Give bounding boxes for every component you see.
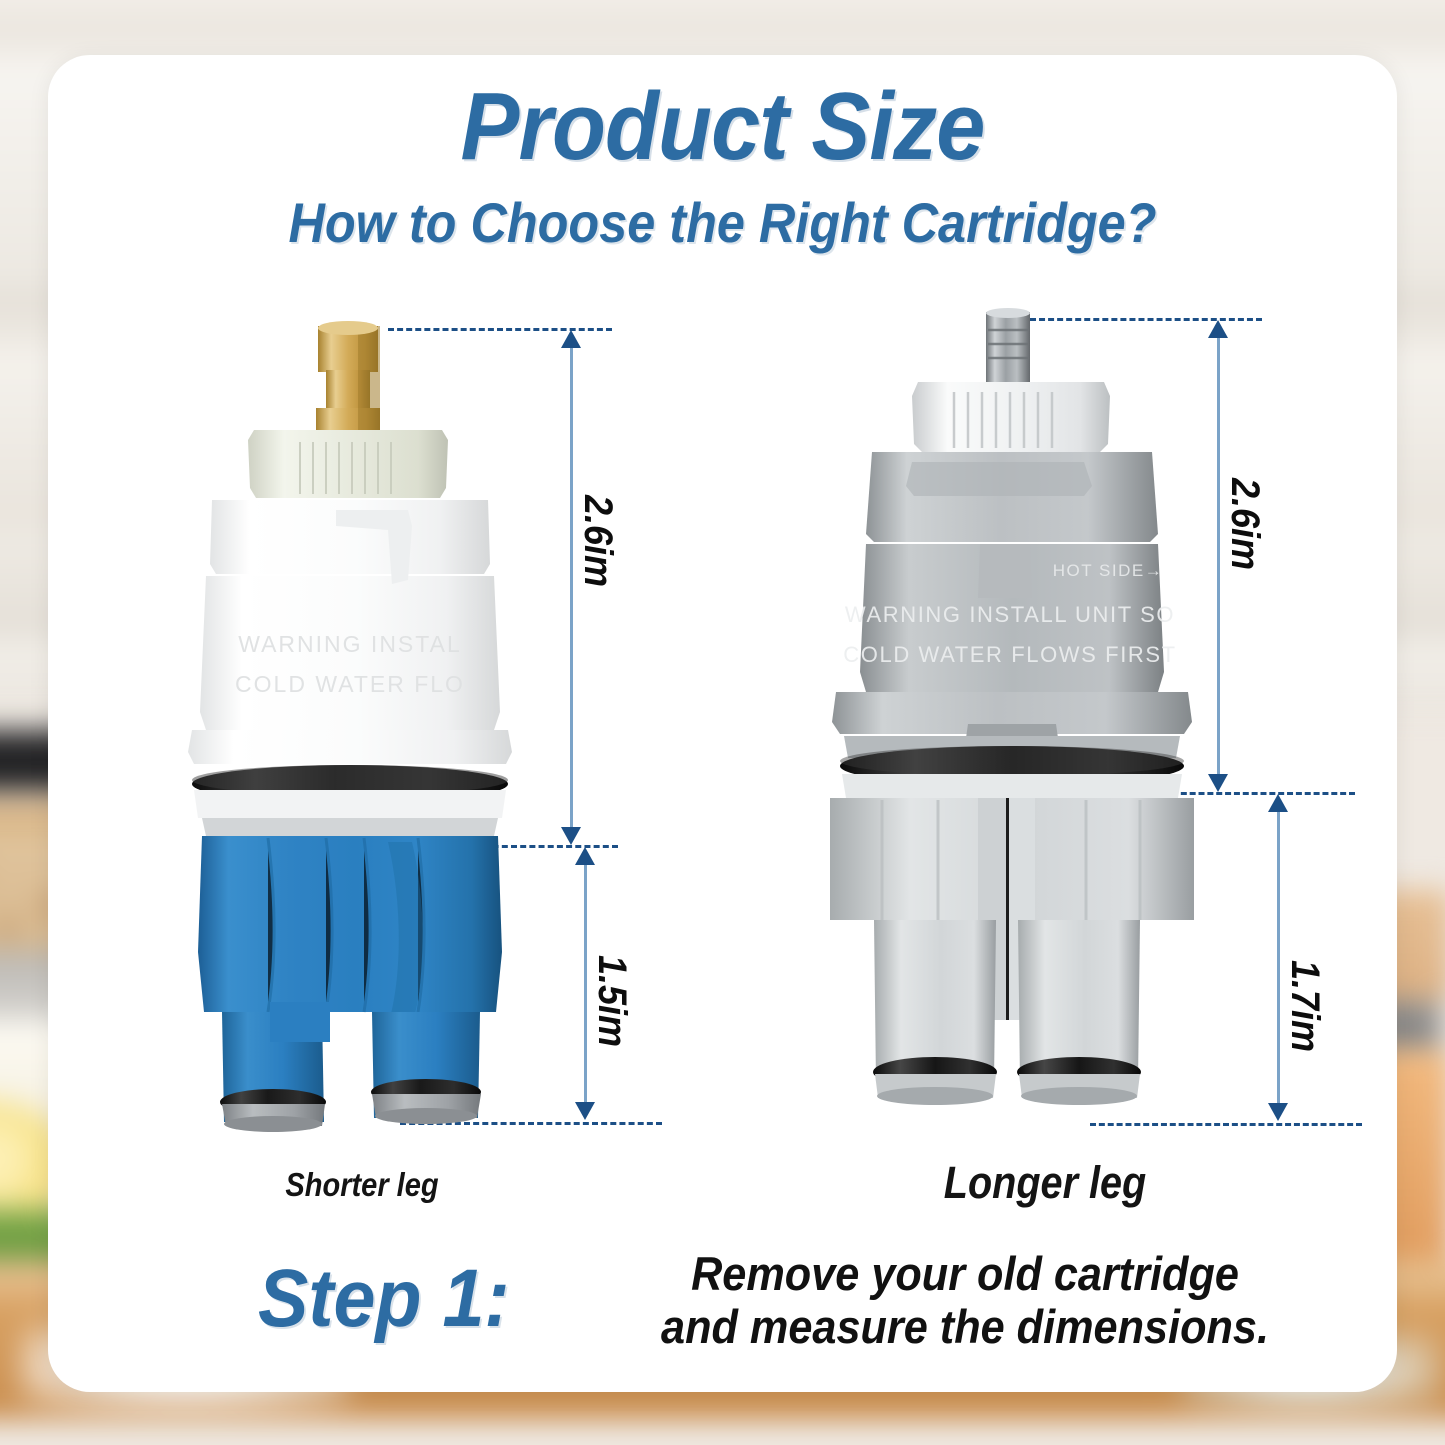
- dimension-label-left-upper: 2.6im: [575, 495, 620, 587]
- step-number: Step 1:: [258, 1252, 510, 1346]
- longer-leg-cartridge-image: HOT SIDE→ WARNING INSTALL UNIT SO COLD W…: [818, 300, 1218, 1130]
- dimension-arrow-left-lower-top: [575, 847, 595, 865]
- step-instruction: Remove your old cartridge and measure th…: [648, 1248, 1283, 1353]
- dimension-label-right-lower: 1.7im: [1282, 960, 1327, 1052]
- dimension-arrow-left-upper-bottom: [561, 827, 581, 845]
- dimension-line-left-upper: [570, 338, 573, 838]
- page-title: Product Size: [58, 72, 1387, 182]
- svg-text:COLD WATER FLO: COLD WATER FLO: [235, 671, 465, 697]
- shorter-leg-cartridge-image: WARNING INSTAL COLD WATER FLO: [150, 312, 550, 1132]
- dimension-arrow-left-upper-top: [561, 330, 581, 348]
- caption-shorter-leg: Shorter leg: [248, 1166, 477, 1204]
- dimension-label-left-lower: 1.5im: [589, 955, 634, 1047]
- dimension-arrow-left-lower-bottom: [575, 1102, 595, 1120]
- caption-longer-leg: Longer leg: [891, 1157, 1199, 1209]
- svg-text:WARNING INSTALL UNIT SO: WARNING INSTALL UNIT SO: [845, 602, 1175, 627]
- dimension-line-left-lower: [584, 855, 587, 1113]
- dimension-line-right-lower: [1277, 802, 1280, 1114]
- svg-text:WARNING INSTAL: WARNING INSTAL: [238, 631, 462, 657]
- svg-text:COLD WATER FLOWS FIRST: COLD WATER FLOWS FIRST: [843, 642, 1176, 667]
- page-subtitle: How to Choose the Right Cartridge?: [72, 190, 1373, 255]
- dimension-label-right-upper: 2.6im: [1222, 478, 1267, 570]
- dimension-arrow-right-lower-bottom: [1268, 1103, 1288, 1121]
- dimension-arrow-right-lower-top: [1268, 794, 1288, 812]
- svg-text:HOT SIDE→: HOT SIDE→: [1053, 561, 1163, 580]
